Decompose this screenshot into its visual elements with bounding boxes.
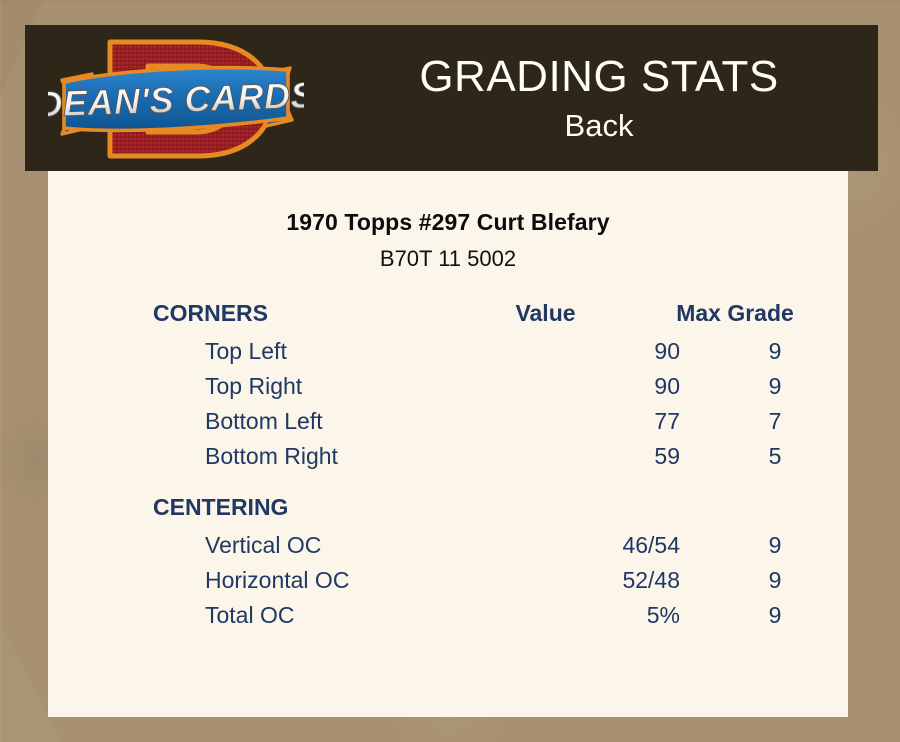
section-title-corners: CORNERS	[153, 300, 463, 327]
row-value: 77	[515, 408, 680, 435]
deans-cards-logo[interactable]: DEAN'S CARDS	[48, 30, 304, 168]
row-label: Horizontal OC	[153, 567, 515, 594]
row-max-grade: 9	[680, 532, 870, 559]
table-row: Top Left 90 9	[153, 338, 819, 373]
row-value: 5%	[515, 602, 680, 629]
row-label: Bottom Right	[153, 443, 515, 470]
section-title-centering: CENTERING	[153, 494, 463, 521]
row-value: 90	[515, 373, 680, 400]
row-label: Bottom Left	[153, 408, 515, 435]
header-title-group: GRADING STATS Back	[320, 25, 878, 171]
grading-stats-table: CORNERS Value Max Grade Top Left 90 9 To…	[48, 300, 848, 637]
page-title: GRADING STATS	[419, 50, 778, 104]
row-max-grade: 5	[680, 443, 870, 470]
row-label: Top Left	[153, 338, 515, 365]
row-max-grade: 9	[680, 373, 870, 400]
column-header-max-grade: Max Grade	[640, 300, 830, 327]
table-row: Total OC 5% 9	[153, 602, 819, 637]
row-max-grade: 7	[680, 408, 870, 435]
card-title: 1970 Topps #297 Curt Blefary	[48, 209, 848, 236]
header-band: DEAN'S CARDS GRADING STATS Back	[25, 25, 878, 171]
row-max-grade: 9	[680, 567, 870, 594]
stats-section-corners: CORNERS Value Max Grade Top Left 90 9 To…	[153, 300, 819, 478]
section-spacer	[153, 480, 819, 494]
row-value: 59	[515, 443, 680, 470]
table-row: Bottom Left 77 7	[153, 408, 819, 443]
row-max-grade: 9	[680, 602, 870, 629]
row-label: Vertical OC	[153, 532, 515, 559]
page-subtitle: Back	[565, 106, 634, 146]
card-serial-number: B70T 11 5002	[48, 246, 848, 272]
row-value: 52/48	[515, 567, 680, 594]
table-row: Top Right 90 9	[153, 373, 819, 408]
table-row: Vertical OC 46/54 9	[153, 532, 819, 567]
row-value: 90	[515, 338, 680, 365]
row-value: 46/54	[515, 532, 680, 559]
section-header-row: CORNERS Value Max Grade	[153, 300, 819, 338]
column-header-value: Value	[463, 300, 640, 327]
stats-section-centering: CENTERING Vertical OC 46/54 9 Horizontal…	[153, 494, 819, 637]
row-max-grade: 9	[680, 338, 870, 365]
table-row: Horizontal OC 52/48 9	[153, 567, 819, 602]
section-header-row: CENTERING	[153, 494, 819, 532]
content-panel: 1970 Topps #297 Curt Blefary B70T 11 500…	[48, 171, 848, 717]
row-label: Total OC	[153, 602, 515, 629]
table-row: Bottom Right 59 5	[153, 443, 819, 478]
row-label: Top Right	[153, 373, 515, 400]
